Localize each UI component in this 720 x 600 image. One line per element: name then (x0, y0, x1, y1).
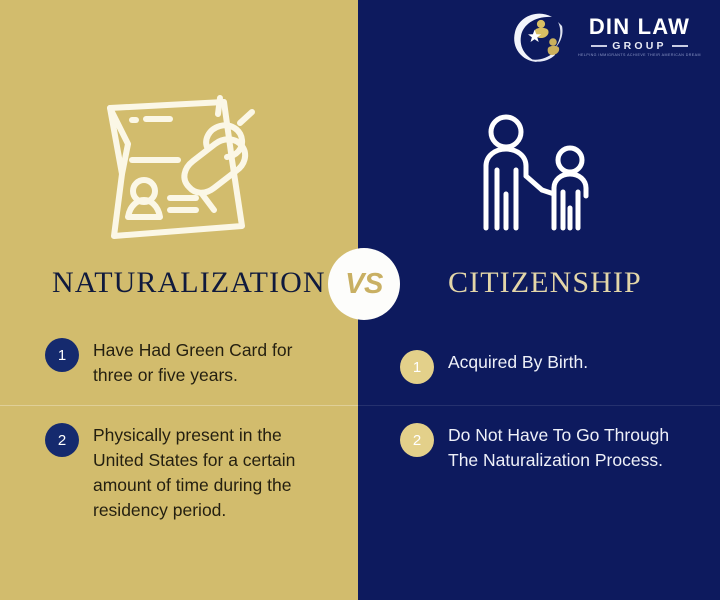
badge-number: 1 (400, 350, 434, 384)
parent-and-child-icon (470, 110, 610, 250)
right-title-citizenship: CITIZENSHIP (448, 266, 642, 300)
brand-title: DIN LAW (589, 16, 690, 38)
list-item-text: Physically present in the United States … (93, 423, 328, 522)
crescent-star-people-emblem-icon (508, 8, 570, 66)
vs-label: VS (345, 268, 383, 301)
list-item: 1 Have Had Green Card for three or five … (45, 338, 328, 388)
dash-left-icon (591, 45, 607, 47)
certificate-stamp-icon (92, 86, 276, 246)
left-title-naturalization: NATURALIZATION (52, 266, 326, 300)
vs-badge: VS (328, 248, 400, 320)
right-panel-citizenship (358, 0, 720, 600)
list-item-text: Acquired By Birth. (448, 350, 698, 384)
list-item-text: Do Not Have To Go Through The Naturaliza… (448, 423, 698, 473)
brand-logo: DIN LAW GROUP HELPING IMMIGRANTS ACHIEVE… (508, 6, 704, 68)
brand-subtitle-row: GROUP (591, 41, 688, 52)
brand-tagline: HELPING IMMIGRANTS ACHIEVE THEIR AMERICA… (578, 54, 701, 58)
list-item: 2 Physically present in the United State… (45, 423, 328, 522)
list-item-text: Have Had Green Card for three or five ye… (93, 338, 328, 388)
badge-number: 1 (45, 338, 79, 372)
dash-right-icon (672, 45, 688, 47)
row-separator-left (0, 405, 358, 406)
list-item: 2 Do Not Have To Go Through The Naturali… (400, 423, 698, 473)
brand-wordmark: DIN LAW GROUP HELPING IMMIGRANTS ACHIEVE… (578, 16, 701, 58)
brand-subtitle: GROUP (612, 41, 667, 52)
list-item: 1 Acquired By Birth. (400, 350, 698, 384)
badge-number: 2 (400, 423, 434, 457)
badge-number: 2 (45, 423, 79, 457)
infographic-canvas: DIN LAW GROUP HELPING IMMIGRANTS ACHIEVE… (0, 0, 720, 600)
